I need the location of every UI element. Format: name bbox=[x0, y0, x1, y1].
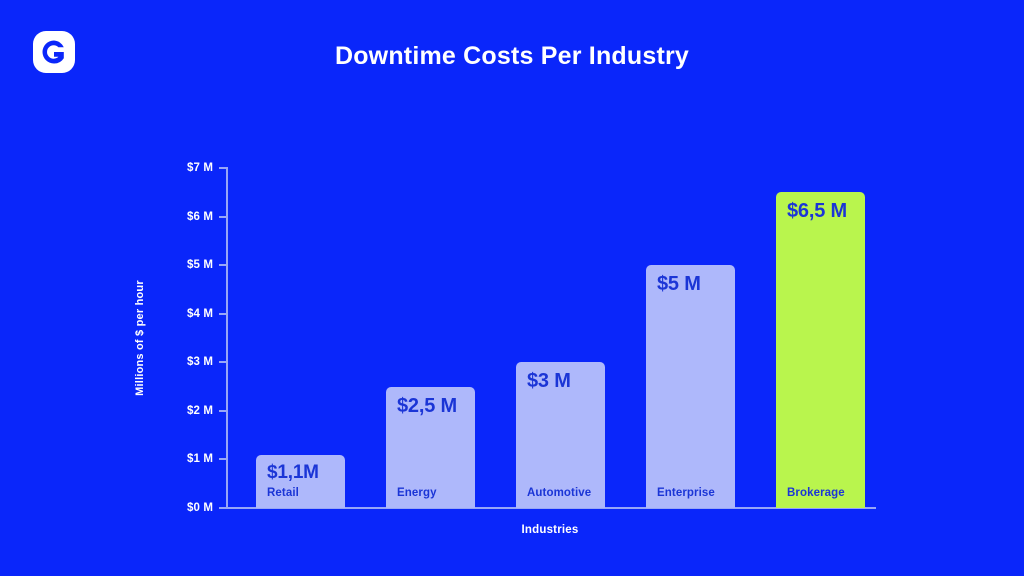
y-axis-tick-mark bbox=[219, 410, 226, 412]
bar-energy[interactable]: $2,5 MEnergy bbox=[386, 387, 475, 508]
bar-retail[interactable]: $1,1MRetail bbox=[256, 455, 345, 508]
bar-value-label: $3 M bbox=[527, 371, 594, 391]
bar-value-label: $2,5 M bbox=[397, 396, 464, 416]
bar-value-label: $5 M bbox=[657, 274, 724, 294]
y-axis-tick-label: $1 M bbox=[187, 453, 213, 465]
y-axis-tick: $0 M bbox=[187, 502, 226, 514]
y-axis-tick-mark bbox=[219, 216, 226, 218]
bar-enterprise[interactable]: $5 MEnterprise bbox=[646, 265, 735, 508]
y-axis-tick-mark bbox=[219, 458, 226, 460]
y-axis-tick: $1 M bbox=[187, 453, 226, 465]
x-axis-title: Industries bbox=[522, 524, 579, 536]
bar-automotive[interactable]: $3 MAutomotive bbox=[516, 362, 605, 508]
bar-value-label: $1,1M bbox=[267, 463, 334, 482]
y-axis-tick-mark bbox=[219, 167, 226, 169]
y-axis-tick-mark bbox=[219, 507, 226, 509]
bar-category-label: Automotive bbox=[527, 487, 591, 499]
page-title: Downtime Costs Per Industry bbox=[0, 42, 1024, 71]
y-axis-tick: $5 M bbox=[187, 259, 226, 271]
y-axis-tick-mark bbox=[219, 264, 226, 266]
bar-brokerage[interactable]: $6,5 MBrokerage bbox=[776, 192, 865, 508]
plot-area: $7 M$6 M$5 M$4 M$3 M$2 M$1 M$0 M $1,1MRe… bbox=[226, 168, 875, 508]
y-axis-tick-label: $7 M bbox=[187, 162, 213, 174]
y-axis-tick-label: $4 M bbox=[187, 308, 213, 320]
bar-category-label: Energy bbox=[397, 487, 437, 499]
y-axis-tick-label: $6 M bbox=[187, 211, 213, 223]
y-axis-tick-mark bbox=[219, 313, 226, 315]
bar-category-label: Retail bbox=[267, 487, 299, 499]
slide-canvas: Downtime Costs Per Industry Millions of … bbox=[0, 0, 1024, 576]
y-axis-tick: $6 M bbox=[187, 211, 226, 223]
bar-category-label: Enterprise bbox=[657, 487, 715, 499]
bar-category-label: Brokerage bbox=[787, 487, 845, 499]
y-axis-tick: $7 M bbox=[187, 162, 226, 174]
bar-value-label: $6,5 M bbox=[787, 201, 854, 221]
y-axis-tick-label: $0 M bbox=[187, 502, 213, 514]
y-axis-tick: $4 M bbox=[187, 308, 226, 320]
y-axis-tick-mark bbox=[219, 361, 226, 363]
y-axis-tick-label: $5 M bbox=[187, 259, 213, 271]
y-axis-tick-label: $3 M bbox=[187, 356, 213, 368]
y-axis-tick: $2 M bbox=[187, 405, 226, 417]
y-axis-tick-label: $2 M bbox=[187, 405, 213, 417]
y-axis-title: Millions of $ per hour bbox=[134, 280, 146, 396]
y-axis-tick: $3 M bbox=[187, 356, 226, 368]
